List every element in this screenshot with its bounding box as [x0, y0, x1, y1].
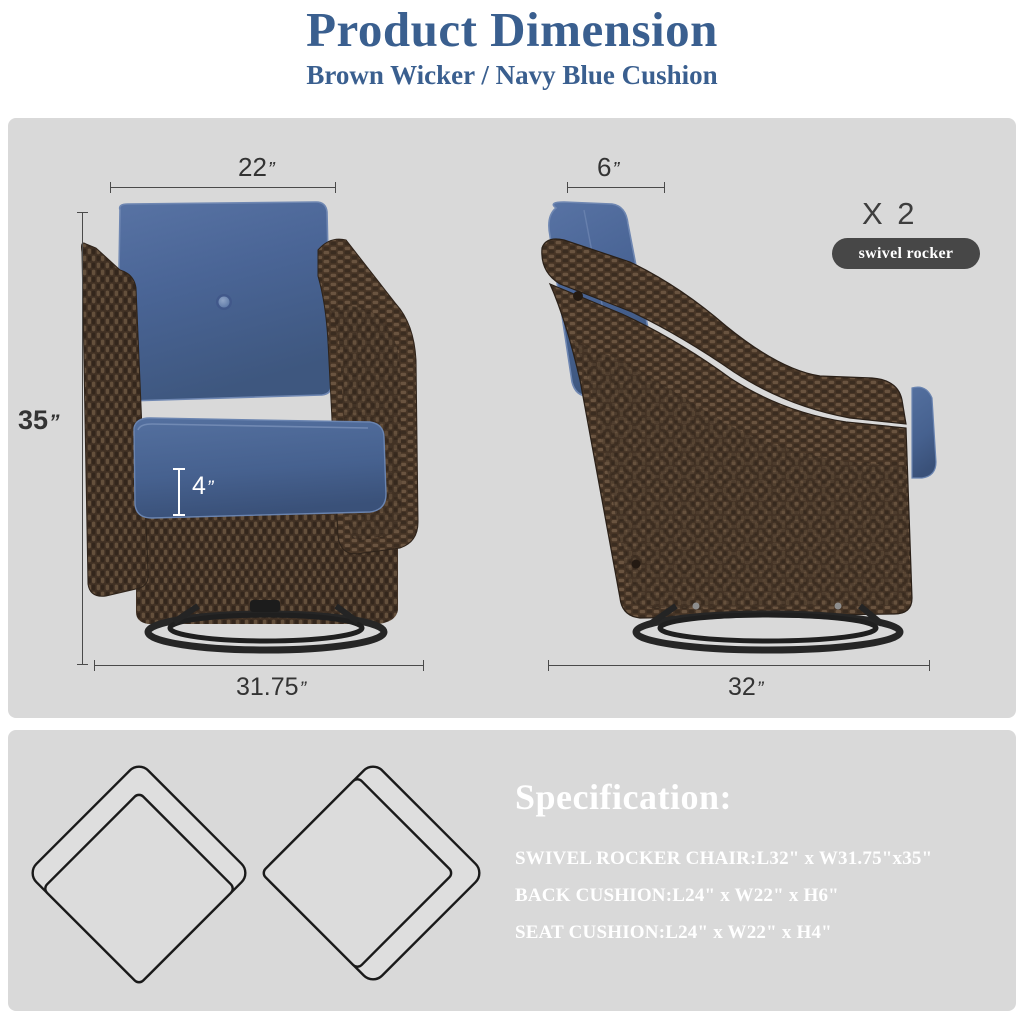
header: Product Dimension Brown Wicker / Navy Bl…	[0, 0, 1024, 112]
dimension-line-back-thickness	[567, 187, 665, 188]
page-title: Product Dimension	[0, 0, 1024, 55]
dimension-label-overall-height: 35”	[18, 405, 59, 436]
list-item: SWIVEL ROCKER CHAIR:L32" x W31.75"x35"	[515, 848, 995, 870]
dimension-label-seat-thickness: 4”	[192, 472, 212, 501]
dimension-line-overall-width	[94, 665, 424, 666]
dimension-label-overall-width: 31.75”	[236, 673, 305, 702]
status-badge-swivel-rocker: swivel rocker	[832, 238, 980, 269]
specification-list: SWIVEL ROCKER CHAIR:L32" x W31.75"x35" B…	[515, 848, 995, 959]
page-subtitle: Brown Wicker / Navy Blue Cushion	[0, 55, 1024, 91]
dimension-line-seat-thickness	[178, 468, 180, 516]
dimension-line-overall-height	[82, 212, 83, 665]
dimension-label-overall-depth: 32”	[728, 673, 762, 702]
dimension-label-cushion-width: 22”	[238, 152, 274, 183]
dimension-line-cushion-width	[110, 187, 336, 188]
dimension-label-back-thickness: 6”	[597, 152, 618, 183]
front-view-chair-illustration	[78, 192, 458, 672]
product-dimension-infographic: Product Dimension Brown Wicker / Navy Bl…	[0, 0, 1024, 1019]
back-cushion-outline-icon	[24, 762, 254, 984]
status-badge-label: swivel rocker	[859, 245, 954, 263]
quantity-count-label: X 2	[862, 196, 918, 232]
list-item: SEAT CUSHION:L24" x W22" x H4"	[515, 922, 995, 944]
specification-heading: Specification:	[515, 776, 732, 818]
list-item: BACK CUSHION:L24" x W22" x H6"	[515, 885, 995, 907]
seat-cushion-outline-icon	[258, 762, 488, 984]
side-view-chair-illustration	[520, 200, 960, 670]
dimension-line-overall-depth	[548, 665, 930, 666]
